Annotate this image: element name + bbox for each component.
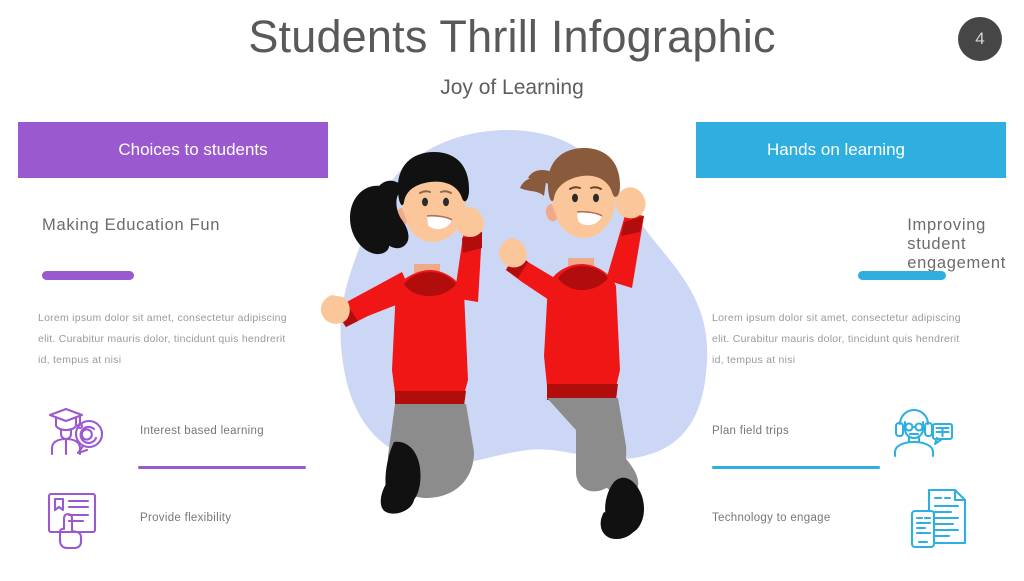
column-header-bar-left-label: Choices to students (118, 140, 267, 160)
feature-divider-left (138, 466, 306, 469)
illustration-two-jumping-students (296, 112, 728, 576)
feature-label: Provide flexibility (140, 512, 231, 524)
screen-touch-icon (42, 485, 108, 551)
column-header-bar-right-label: Hands on learning (767, 140, 905, 160)
feature-item-interest-based-learning[interactable]: Interest based learning (42, 398, 264, 464)
slide-number-badge: 4 (958, 17, 1002, 61)
feature-divider-right (712, 466, 880, 469)
column-left-divider-pill (42, 271, 134, 280)
feature-item-technology-to-engage[interactable]: Technology to engage (712, 485, 973, 551)
graduate-at-icon (42, 398, 108, 464)
document-phone-icon (907, 485, 973, 551)
feature-item-plan-field-trips[interactable]: Plan field trips (712, 398, 955, 464)
headset-book-icon (889, 398, 955, 464)
feature-item-provide-flexibility[interactable]: Provide flexibility (42, 485, 231, 551)
column-right-heading: Improving student engagement (907, 216, 1006, 273)
column-right-body-text: Lorem ipsum dolor sit amet, consectetur … (712, 308, 974, 371)
page-subtitle: Joy of Learning (0, 76, 1024, 100)
column-left-heading: Making Education Fun (42, 216, 220, 235)
column-left-body-text: Lorem ipsum dolor sit amet, consectetur … (38, 308, 300, 371)
feature-label: Interest based learning (140, 425, 264, 437)
column-right-divider-pill (858, 271, 946, 280)
feature-label: Technology to engage (712, 512, 831, 524)
column-header-bar-left[interactable]: Choices to students (18, 122, 328, 178)
column-header-bar-right[interactable]: Hands on learning (696, 122, 1006, 178)
page-title: Students Thrill Infographic (0, 12, 1024, 62)
